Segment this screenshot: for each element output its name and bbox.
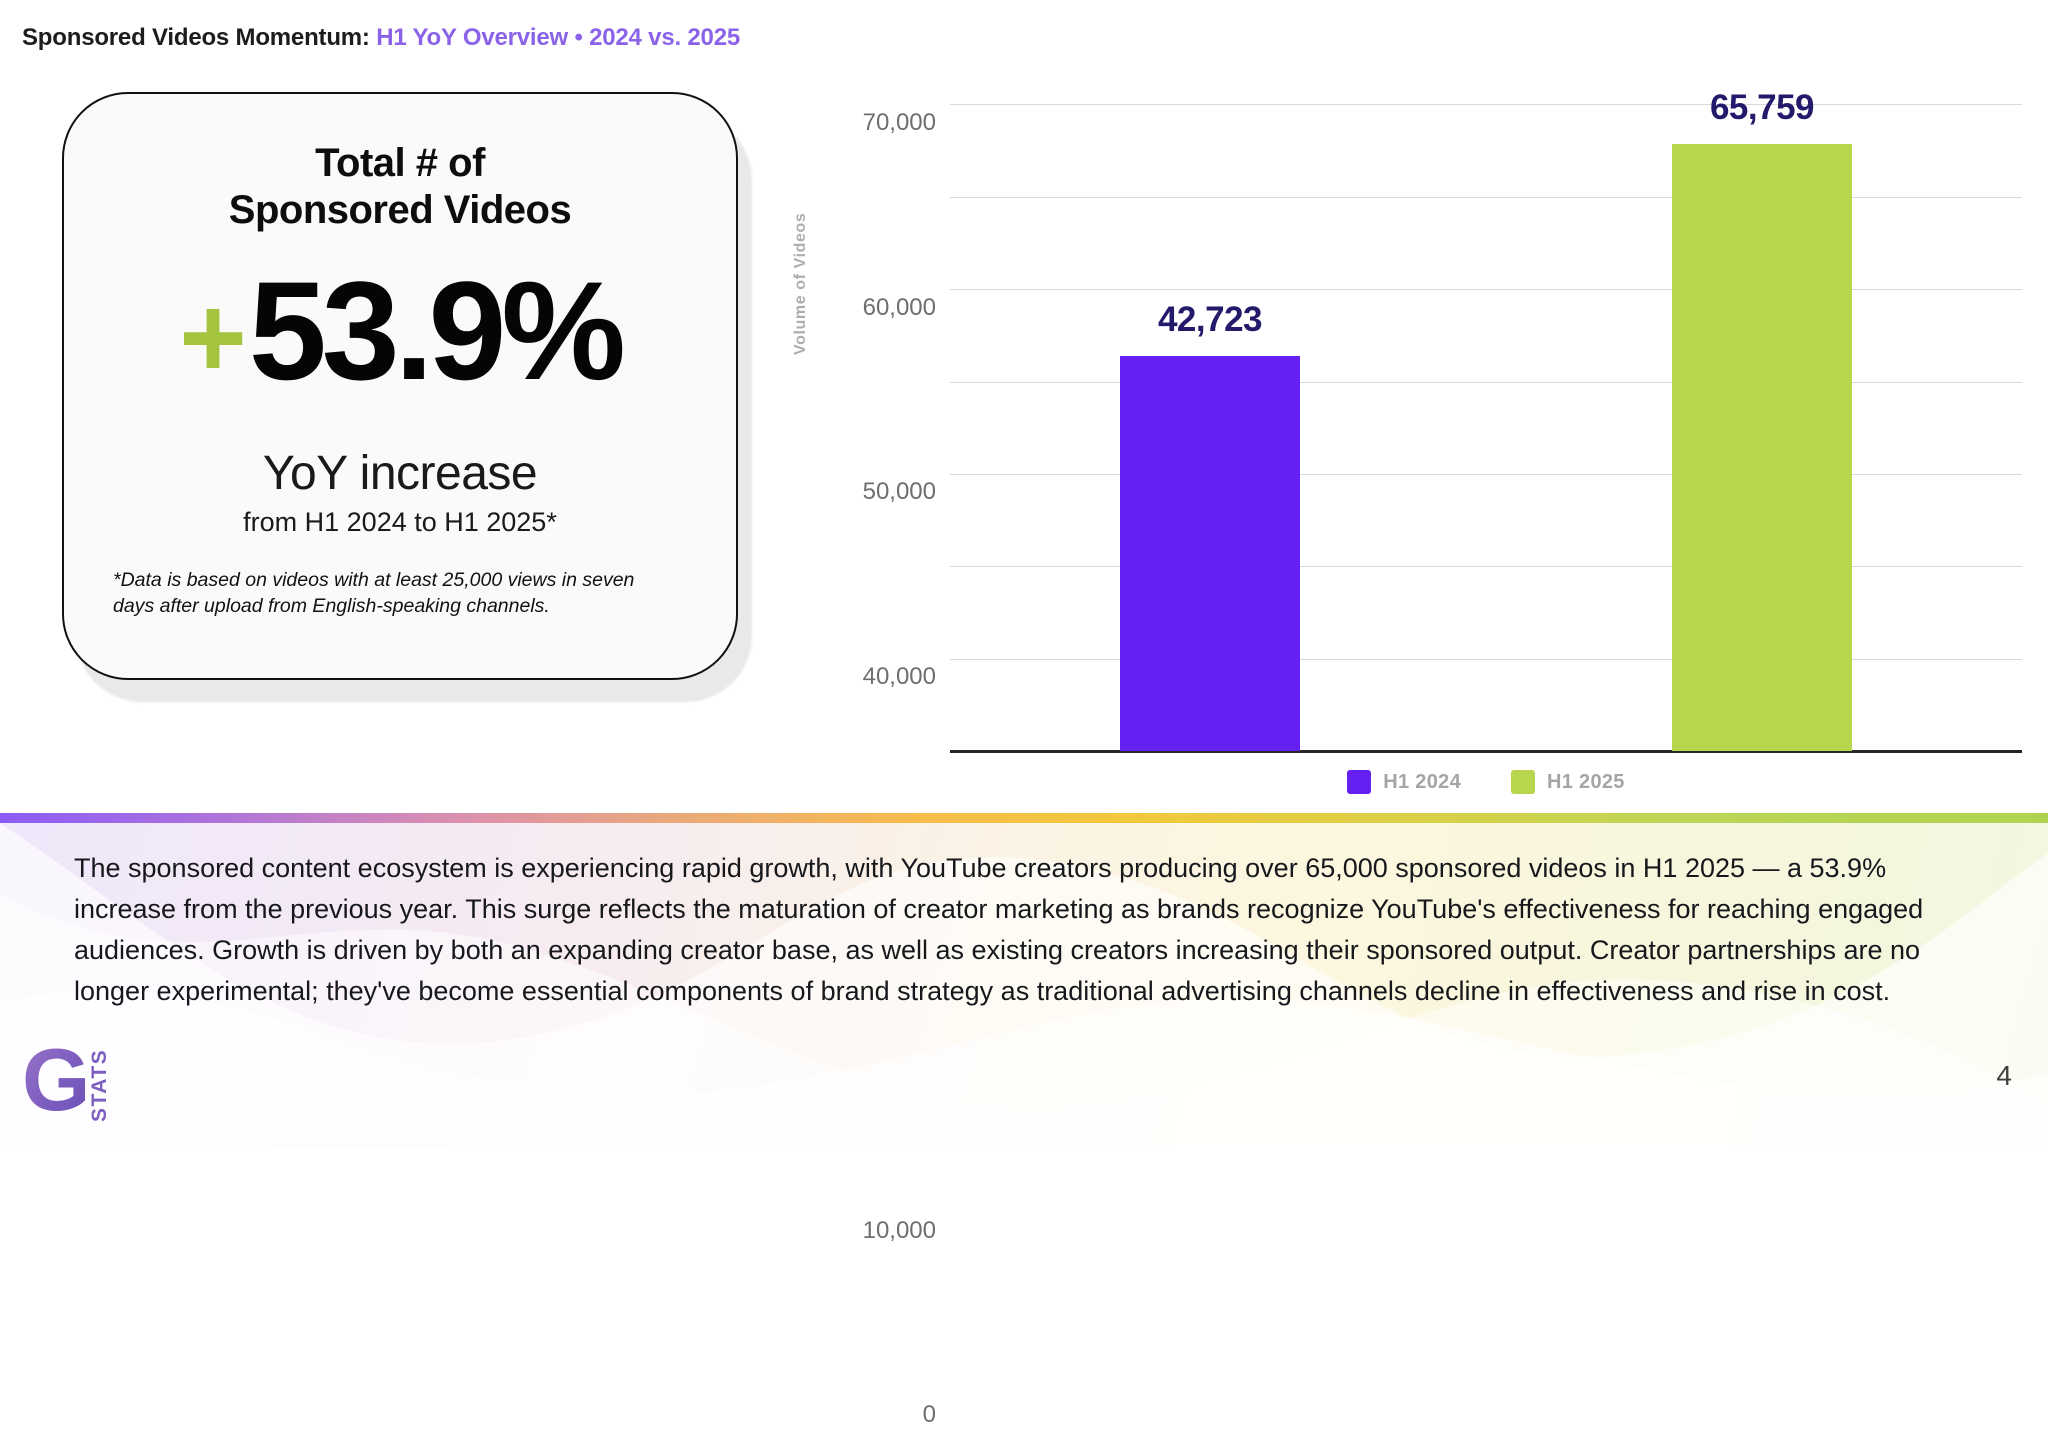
stat-card-heading-line1: Total # of bbox=[229, 140, 571, 187]
stat-card-yoy-sublabel: from H1 2024 to H1 2025* bbox=[243, 507, 557, 538]
legend-item[interactable]: H1 2024 bbox=[1347, 770, 1461, 794]
gridline: 50,000 bbox=[950, 289, 2022, 290]
gridline: 10,000 bbox=[950, 659, 2022, 660]
y-axis-title: Volume of Videos bbox=[792, 213, 810, 355]
stat-card-footnote: *Data is based on videos with at least 2… bbox=[104, 568, 664, 619]
footer-section: The sponsored content ecosystem is exper… bbox=[0, 823, 2048, 1147]
y-axis-tick-label: 50,000 bbox=[863, 478, 936, 506]
page-title: Sponsored Videos Momentum: H1 YoY Overvi… bbox=[22, 24, 740, 52]
bar-chart: Volume of Videos 010,00020,00030,00040,0… bbox=[800, 70, 2022, 770]
stat-card: Total # of Sponsored Videos + 53.9% YoY … bbox=[62, 92, 738, 680]
gridline: 70,000 bbox=[950, 104, 2022, 105]
page-number: 4 bbox=[1996, 1060, 2012, 1092]
bar-value-label: 42,723 bbox=[1158, 300, 1262, 340]
y-axis-tick-label: 40,000 bbox=[863, 663, 936, 691]
y-axis-tick-label: 70,000 bbox=[863, 109, 936, 137]
chart-bar[interactable]: 42,723 bbox=[1120, 356, 1300, 751]
gridline: 40,000 bbox=[950, 382, 2022, 383]
legend-label: H1 2025 bbox=[1547, 771, 1625, 794]
legend-label: H1 2024 bbox=[1383, 771, 1461, 794]
footer-paragraph: The sponsored content ecosystem is exper… bbox=[74, 848, 1974, 1012]
legend-swatch-icon bbox=[1511, 770, 1535, 794]
bar-value-label: 65,759 bbox=[1710, 88, 1814, 128]
gridline: 60,000 bbox=[950, 197, 2022, 198]
x-axis-line: 0 bbox=[950, 750, 2022, 753]
stat-card-yoy-label: YoY increase bbox=[263, 446, 537, 501]
chart-legend: H1 2024H1 2025 bbox=[950, 770, 2022, 794]
plus-icon: + bbox=[179, 279, 247, 395]
chart-plot-area: 010,00020,00030,00040,00050,00060,00070,… bbox=[950, 86, 2022, 751]
stat-card-value: 53.9% bbox=[249, 261, 621, 401]
gridline: 30,000 bbox=[950, 474, 2022, 475]
logo-word-stats: STATS bbox=[88, 1049, 111, 1122]
gstats-logo: G STATS bbox=[22, 1038, 118, 1124]
logo-letter-g: G bbox=[22, 1038, 90, 1124]
gridline: 20,000 bbox=[950, 566, 2022, 567]
stat-card-heading: Total # of Sponsored Videos bbox=[229, 140, 571, 234]
legend-swatch-icon bbox=[1347, 770, 1371, 794]
stat-card-heading-line2: Sponsored Videos bbox=[229, 187, 571, 234]
gradient-divider bbox=[0, 813, 2048, 823]
chart-bar[interactable]: 65,759 bbox=[1672, 144, 1852, 751]
stat-card-value-row: + 53.9% bbox=[179, 256, 621, 406]
page-title-accent: H1 YoY Overview • 2024 vs. 2025 bbox=[376, 24, 740, 51]
y-axis-tick-label: 60,000 bbox=[863, 294, 936, 322]
y-axis-tick-label: 10,000 bbox=[863, 1217, 936, 1245]
legend-item[interactable]: H1 2025 bbox=[1511, 770, 1625, 794]
page-title-lead: Sponsored Videos Momentum: bbox=[22, 24, 370, 51]
stat-card-container: Total # of Sponsored Videos + 53.9% YoY … bbox=[62, 92, 752, 702]
y-axis-tick-label: 0 bbox=[923, 1401, 936, 1429]
